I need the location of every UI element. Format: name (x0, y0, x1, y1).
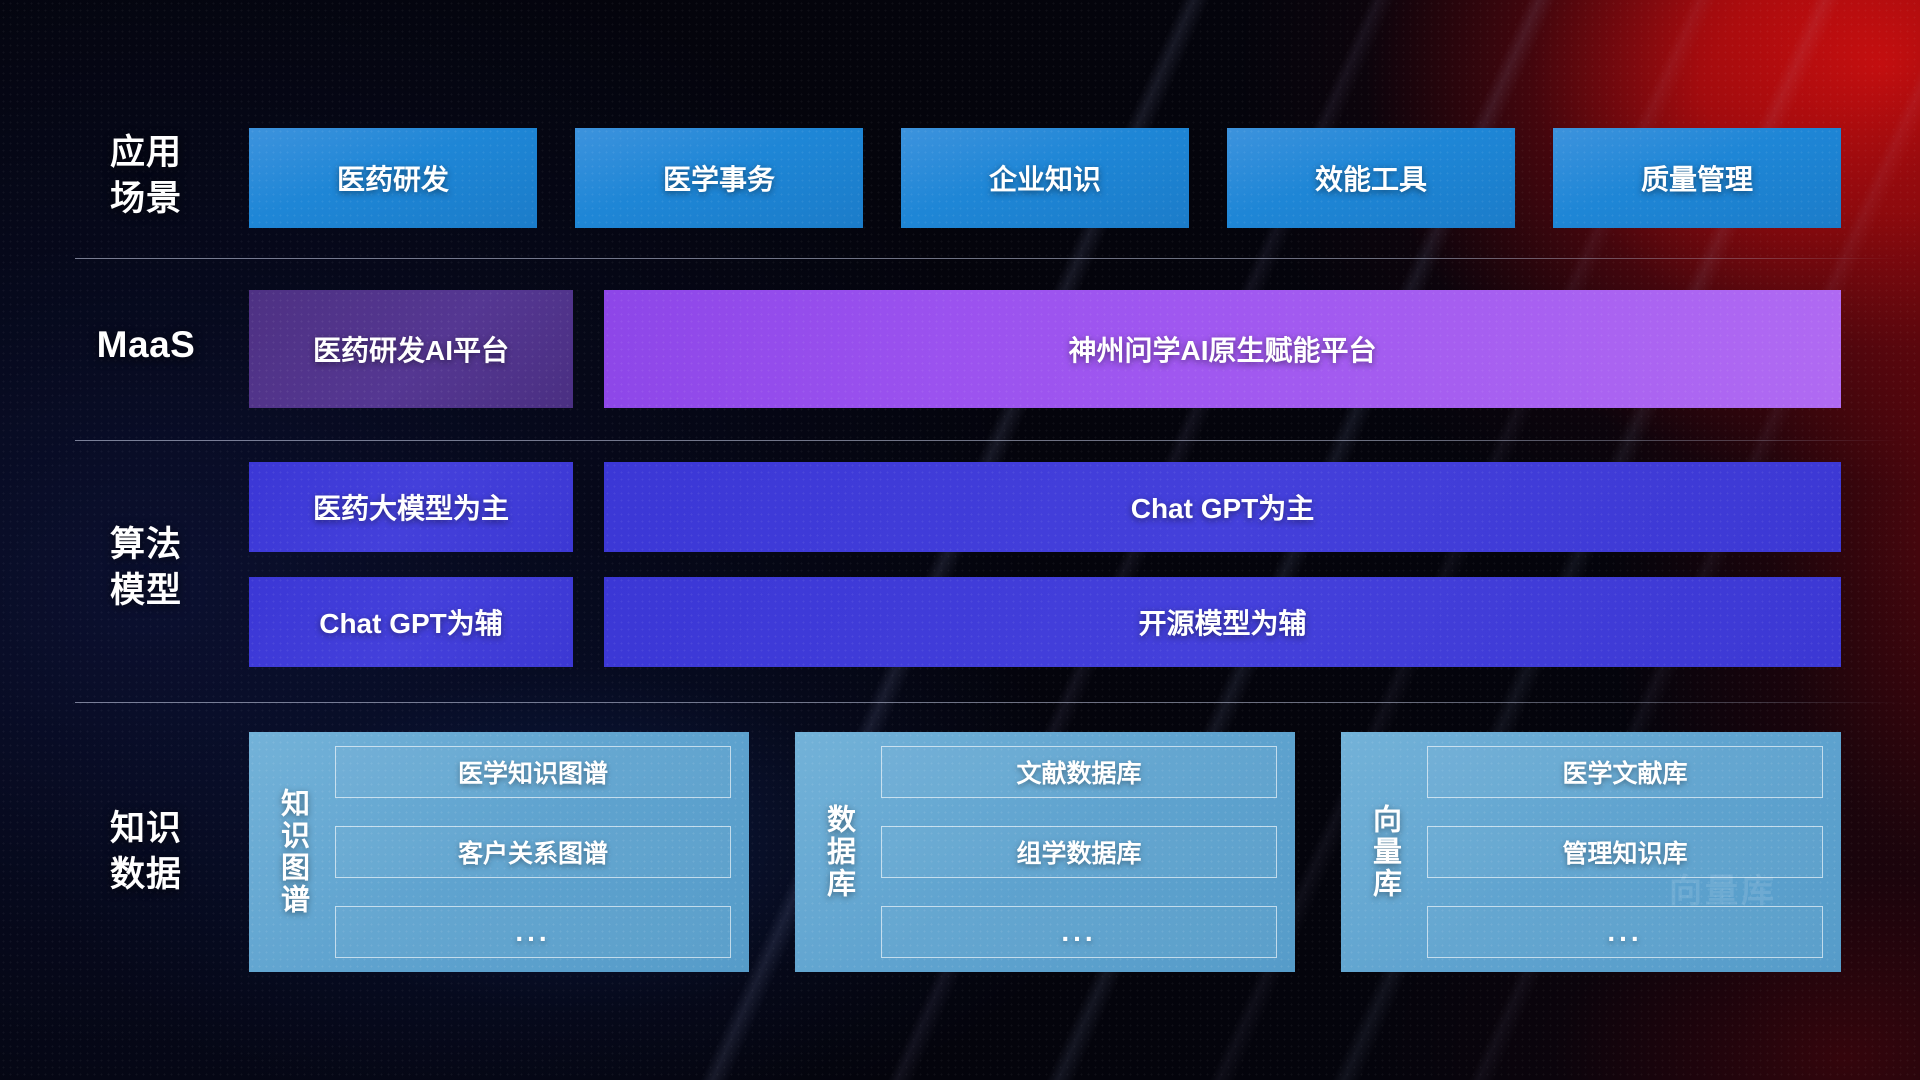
app-box-4-label: 效能工具 (1315, 158, 1427, 198)
knowledge-group-vector-store-items: 医学文献库 管理知识库 ... (1427, 746, 1823, 958)
row-label-maas: MaaS (60, 322, 232, 368)
maas-box-2-label: 神州问学AI原生赋能平台 (1068, 329, 1376, 369)
algorithm-box-primary-right[interactable]: Chat GPT为主 (604, 462, 1841, 552)
knowledge-group-graph-items: 医学知识图谱 客户关系图谱 ... (335, 746, 731, 958)
slide-canvas: 应用 场景 医药研发 医学事务 企业知识 效能工具 质量管理 (0, 0, 1920, 1080)
knowledge-item[interactable]: 客户关系图谱 (335, 826, 731, 878)
row-label-line2: 场景 (60, 176, 232, 222)
app-box-5-label: 质量管理 (1641, 158, 1753, 198)
knowledge-group-vector-store[interactable]: 向量库 向量库 医学文献库 管理知识库 ... (1341, 732, 1841, 972)
row-label-line1: 算法 (60, 522, 232, 568)
app-box-2-label: 医学事务 (663, 158, 775, 198)
algorithm-box-primary-left[interactable]: 医药大模型为主 (249, 462, 573, 552)
row-knowledge-data: 知识 数据 知识图谱 医学知识图谱 客户关系图谱 ... 数据库 文献数据库 (0, 732, 1920, 972)
algorithm-box-primary-left-label: 医药大模型为主 (313, 487, 509, 527)
maas-box-medical-ai-platform[interactable]: 医药研发AI平台 (249, 290, 573, 408)
row-label-line1: 应用 (60, 130, 232, 176)
knowledge-item[interactable]: 医学知识图谱 (335, 746, 731, 798)
row-label-application-scenario: 应用 场景 (60, 130, 232, 222)
app-box-1[interactable]: 医药研发 (249, 128, 537, 228)
algorithm-box-secondary-right[interactable]: 开源模型为辅 (604, 577, 1841, 667)
app-box-3-label: 企业知识 (989, 158, 1101, 198)
knowledge-group-graph-title: 知识图谱 (249, 746, 335, 958)
row-label-line1: 知识 (60, 806, 232, 852)
row-label-line2: 数据 (60, 852, 232, 898)
knowledge-item[interactable]: 医学文献库 (1427, 746, 1823, 798)
row-application-scenario: 应用 场景 医药研发 医学事务 企业知识 效能工具 质量管理 (0, 128, 1920, 228)
knowledge-item[interactable]: 文献数据库 (881, 746, 1277, 798)
knowledge-item-more[interactable]: ... (881, 906, 1277, 958)
divider-after-maas (75, 440, 1900, 441)
row-label-algorithm-model: 算法 模型 (60, 522, 232, 614)
row-maas: MaaS 医药研发AI平台 神州问学AI原生赋能平台 (0, 290, 1920, 408)
app-box-4[interactable]: 效能工具 (1227, 128, 1515, 228)
knowledge-item[interactable]: 管理知识库 (1427, 826, 1823, 878)
app-box-1-label: 医药研发 (337, 158, 449, 198)
knowledge-group-database-items: 文献数据库 组学数据库 ... (881, 746, 1277, 958)
algorithm-box-secondary-left[interactable]: Chat GPT为辅 (249, 577, 573, 667)
knowledge-item-more[interactable]: ... (1427, 906, 1823, 958)
knowledge-item[interactable]: 组学数据库 (881, 826, 1277, 878)
knowledge-item-more[interactable]: ... (335, 906, 731, 958)
row-algorithm-model: 算法 模型 医药大模型为主 Chat GPT为主 Chat GPT为辅 开源模型… (0, 462, 1920, 692)
app-box-5[interactable]: 质量管理 (1553, 128, 1841, 228)
row-label-knowledge-data: 知识 数据 (60, 806, 232, 898)
knowledge-group-database[interactable]: 数据库 文献数据库 组学数据库 ... (795, 732, 1295, 972)
knowledge-group-database-title: 数据库 (795, 746, 881, 958)
maas-box-1-label: 医药研发AI平台 (313, 329, 509, 369)
row-label-line2: 模型 (60, 568, 232, 614)
algorithm-box-primary-right-label: Chat GPT为主 (1131, 487, 1315, 527)
knowledge-group-vector-store-title: 向量库 (1341, 746, 1427, 958)
knowledge-group-graph[interactable]: 知识图谱 医学知识图谱 客户关系图谱 ... (249, 732, 749, 972)
maas-box-shenzhou-wenxue-platform[interactable]: 神州问学AI原生赋能平台 (604, 290, 1841, 408)
algorithm-box-secondary-right-label: 开源模型为辅 (1138, 602, 1306, 642)
algorithm-box-secondary-left-label: Chat GPT为辅 (319, 602, 503, 642)
divider-after-application (75, 258, 1900, 259)
divider-after-algorithm (75, 702, 1900, 703)
app-box-3[interactable]: 企业知识 (901, 128, 1189, 228)
app-box-2[interactable]: 医学事务 (575, 128, 863, 228)
